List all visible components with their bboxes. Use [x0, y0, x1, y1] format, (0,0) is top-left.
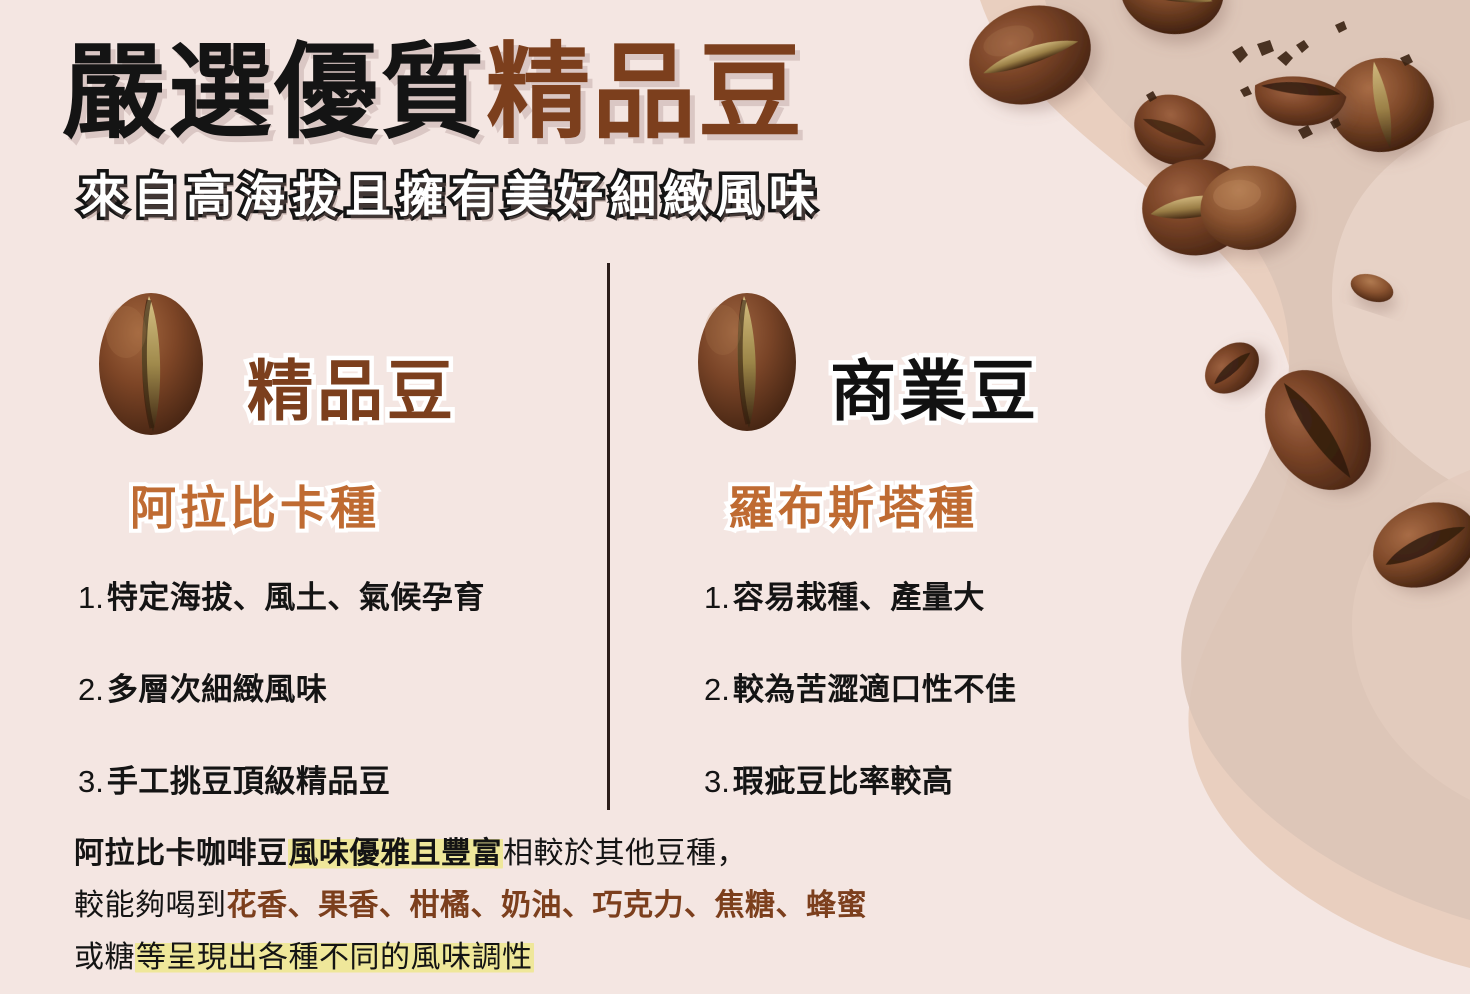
comparison-columns: 精品豆 阿拉比卡種 1. 特定海拔、風土、氣候孕育 2. 多層次細緻風味 3. …: [0, 280, 1470, 820]
footnote-paragraph: 阿拉比卡咖啡豆風味優雅且豐富相較於其他豆種， 較能夠喝到花香、果香、柑橘、奶油、…: [74, 828, 1134, 984]
coffee-bean-icon: [692, 288, 802, 436]
footnote-highlight-flavor: 風味優雅且豐富: [288, 837, 504, 870]
column-divider: [607, 263, 610, 810]
footnote-sugar-text: 或糖: [74, 941, 135, 974]
list-item-text: 容易栽種、產量大: [733, 572, 985, 617]
footnote-line-1: 阿拉比卡咖啡豆風味優雅且豐富相較於其他豆種，: [74, 828, 1134, 880]
column-title: 精品豆: [247, 338, 457, 434]
list-item-number: 3.: [704, 764, 730, 800]
footnote-bean-name: 阿拉比卡咖啡豆: [74, 837, 288, 870]
list-item: 1. 特定海拔、風土、氣候孕育: [78, 572, 618, 617]
list-item: 1. 容易栽種、產量大: [704, 572, 1244, 617]
list-item: 2. 較為苦澀適口性不佳: [704, 664, 1244, 709]
list-item-text: 較為苦澀適口性不佳: [733, 664, 1017, 709]
poster-content: 嚴選優質精品豆 來自高海拔且擁有美好細緻風味: [0, 0, 1470, 994]
list-item-text: 瑕疵豆比率較高: [733, 756, 954, 801]
poster-root: 嚴選優質精品豆 來自高海拔且擁有美好細緻風味: [0, 0, 1470, 994]
list-item: 3. 瑕疵豆比率較高: [704, 756, 1244, 801]
list-item-text: 特定海拔、風土、氣候孕育: [107, 572, 485, 617]
page-title: 嚴選優質精品豆: [62, 38, 1002, 148]
coffee-bean-icon: [92, 288, 210, 440]
list-item-number: 1.: [704, 580, 730, 616]
header-block: 嚴選優質精品豆 來自高海拔且擁有美好細緻風味: [62, 38, 1002, 226]
feature-list: 1. 特定海拔、風土、氣候孕育 2. 多層次細緻風味 3. 手工挑豆頂級精品豆: [78, 572, 618, 848]
page-title-brown: 精品豆: [486, 35, 804, 151]
column-header: 精品豆: [72, 280, 602, 455]
list-item-number: 2.: [78, 672, 104, 708]
list-item-number: 1.: [78, 580, 104, 616]
column-header: 商業豆: [678, 280, 1208, 455]
column-specialty-bean: 精品豆 阿拉比卡種 1. 特定海拔、風土、氣候孕育 2. 多層次細緻風味 3. …: [72, 280, 602, 455]
list-item: 3. 手工挑豆頂級精品豆: [78, 756, 618, 801]
column-species: 阿拉比卡種: [130, 472, 380, 538]
footnote-flavor-list: 花香、果香、柑橘、奶油、巧克力、焦糖、蜂蜜: [227, 889, 868, 922]
footnote-highlight-profile: 等呈現出各種不同的風味調性: [135, 941, 534, 974]
list-item-text: 手工挑豆頂級精品豆: [107, 756, 391, 801]
footnote-compare-text: 相較於其他豆種，: [503, 837, 747, 870]
list-item-number: 3.: [78, 764, 104, 800]
page-title-dark: 嚴選優質: [62, 35, 486, 151]
list-item-number: 2.: [704, 672, 730, 708]
page-subtitle: 來自高海拔且擁有美好細緻風味: [80, 160, 1002, 226]
list-item-text: 多層次細緻風味: [107, 664, 328, 709]
column-commercial-bean: 商業豆 羅布斯塔種 1. 容易栽種、產量大 2. 較為苦澀適口性不佳 3. 瑕疵…: [678, 280, 1208, 455]
footnote-line-2: 較能夠喝到花香、果香、柑橘、奶油、巧克力、焦糖、蜂蜜: [74, 880, 1134, 932]
feature-list: 1. 容易栽種、產量大 2. 較為苦澀適口性不佳 3. 瑕疵豆比率較高: [704, 572, 1244, 848]
footnote-taste-lead: 較能夠喝到: [74, 889, 227, 922]
list-item: 2. 多層次細緻風味: [78, 664, 618, 709]
footnote-line-3: 或糖等呈現出各種不同的風味調性: [74, 932, 1134, 984]
column-title: 商業豆: [830, 338, 1040, 434]
column-species: 羅布斯塔種: [728, 472, 978, 538]
